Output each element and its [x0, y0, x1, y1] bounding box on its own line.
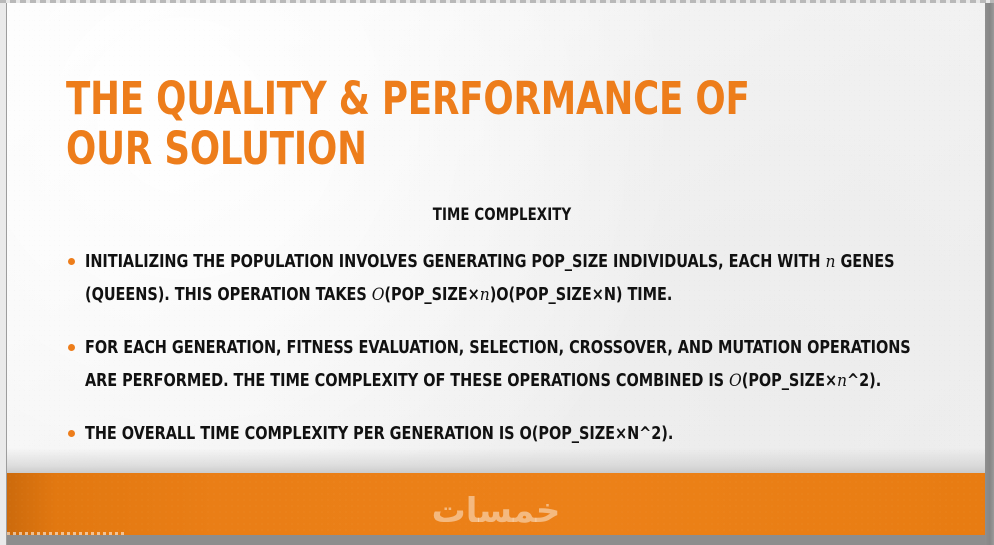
- bullet-dot-icon: [68, 258, 75, 265]
- math-variable: n: [480, 285, 490, 305]
- khamsat-watermark: خمسات: [7, 473, 985, 535]
- text-run: ^2).: [847, 371, 881, 391]
- text-run: The overall time complexity per generati…: [85, 424, 673, 444]
- text-run: (pop_size×: [742, 371, 837, 391]
- bullet-item-3: The overall time complexity per generati…: [66, 418, 938, 451]
- slide-bottom-frame-strip: [7, 535, 985, 545]
- math-variable: n: [825, 252, 835, 272]
- section-subheading: Time Complexity: [110, 205, 895, 224]
- slide-body: Time Complexity Initializing the populat…: [66, 205, 938, 451]
- bullet-dot-icon: [68, 344, 75, 351]
- slide-top-dashed-rule: [0, 0, 994, 3]
- math-variable: O: [372, 285, 385, 305]
- presentation-slide: The Quality & Performance of our Solutio…: [0, 0, 994, 545]
- slide-right-scroll-bar[interactable]: [985, 3, 994, 545]
- footer-shadow-gradient: [7, 448, 985, 473]
- bullet-item-2: For each generation, fitness evaluation,…: [66, 332, 938, 398]
- bullet-dot-icon: [68, 430, 75, 437]
- text-run: )O(pop_size×n) time.: [490, 285, 673, 305]
- bullet-text-3: The overall time complexity per generati…: [85, 418, 936, 451]
- bullet-item-1: Initializing the population involves gen…: [66, 246, 938, 312]
- bullet-list: Initializing the population involves gen…: [66, 246, 938, 451]
- slide-title: The Quality & Performance of our Solutio…: [66, 74, 770, 174]
- text-run: Initializing the population involves gen…: [85, 252, 825, 272]
- math-variable: n: [837, 371, 847, 391]
- footer-orange-band: خمسات: [7, 473, 985, 535]
- math-variable: O: [729, 371, 742, 391]
- bullet-text-1: Initializing the population involves gen…: [85, 246, 936, 312]
- bullet-text-2: For each generation, fitness evaluation,…: [85, 332, 936, 398]
- text-run: (pop_size×: [384, 285, 479, 305]
